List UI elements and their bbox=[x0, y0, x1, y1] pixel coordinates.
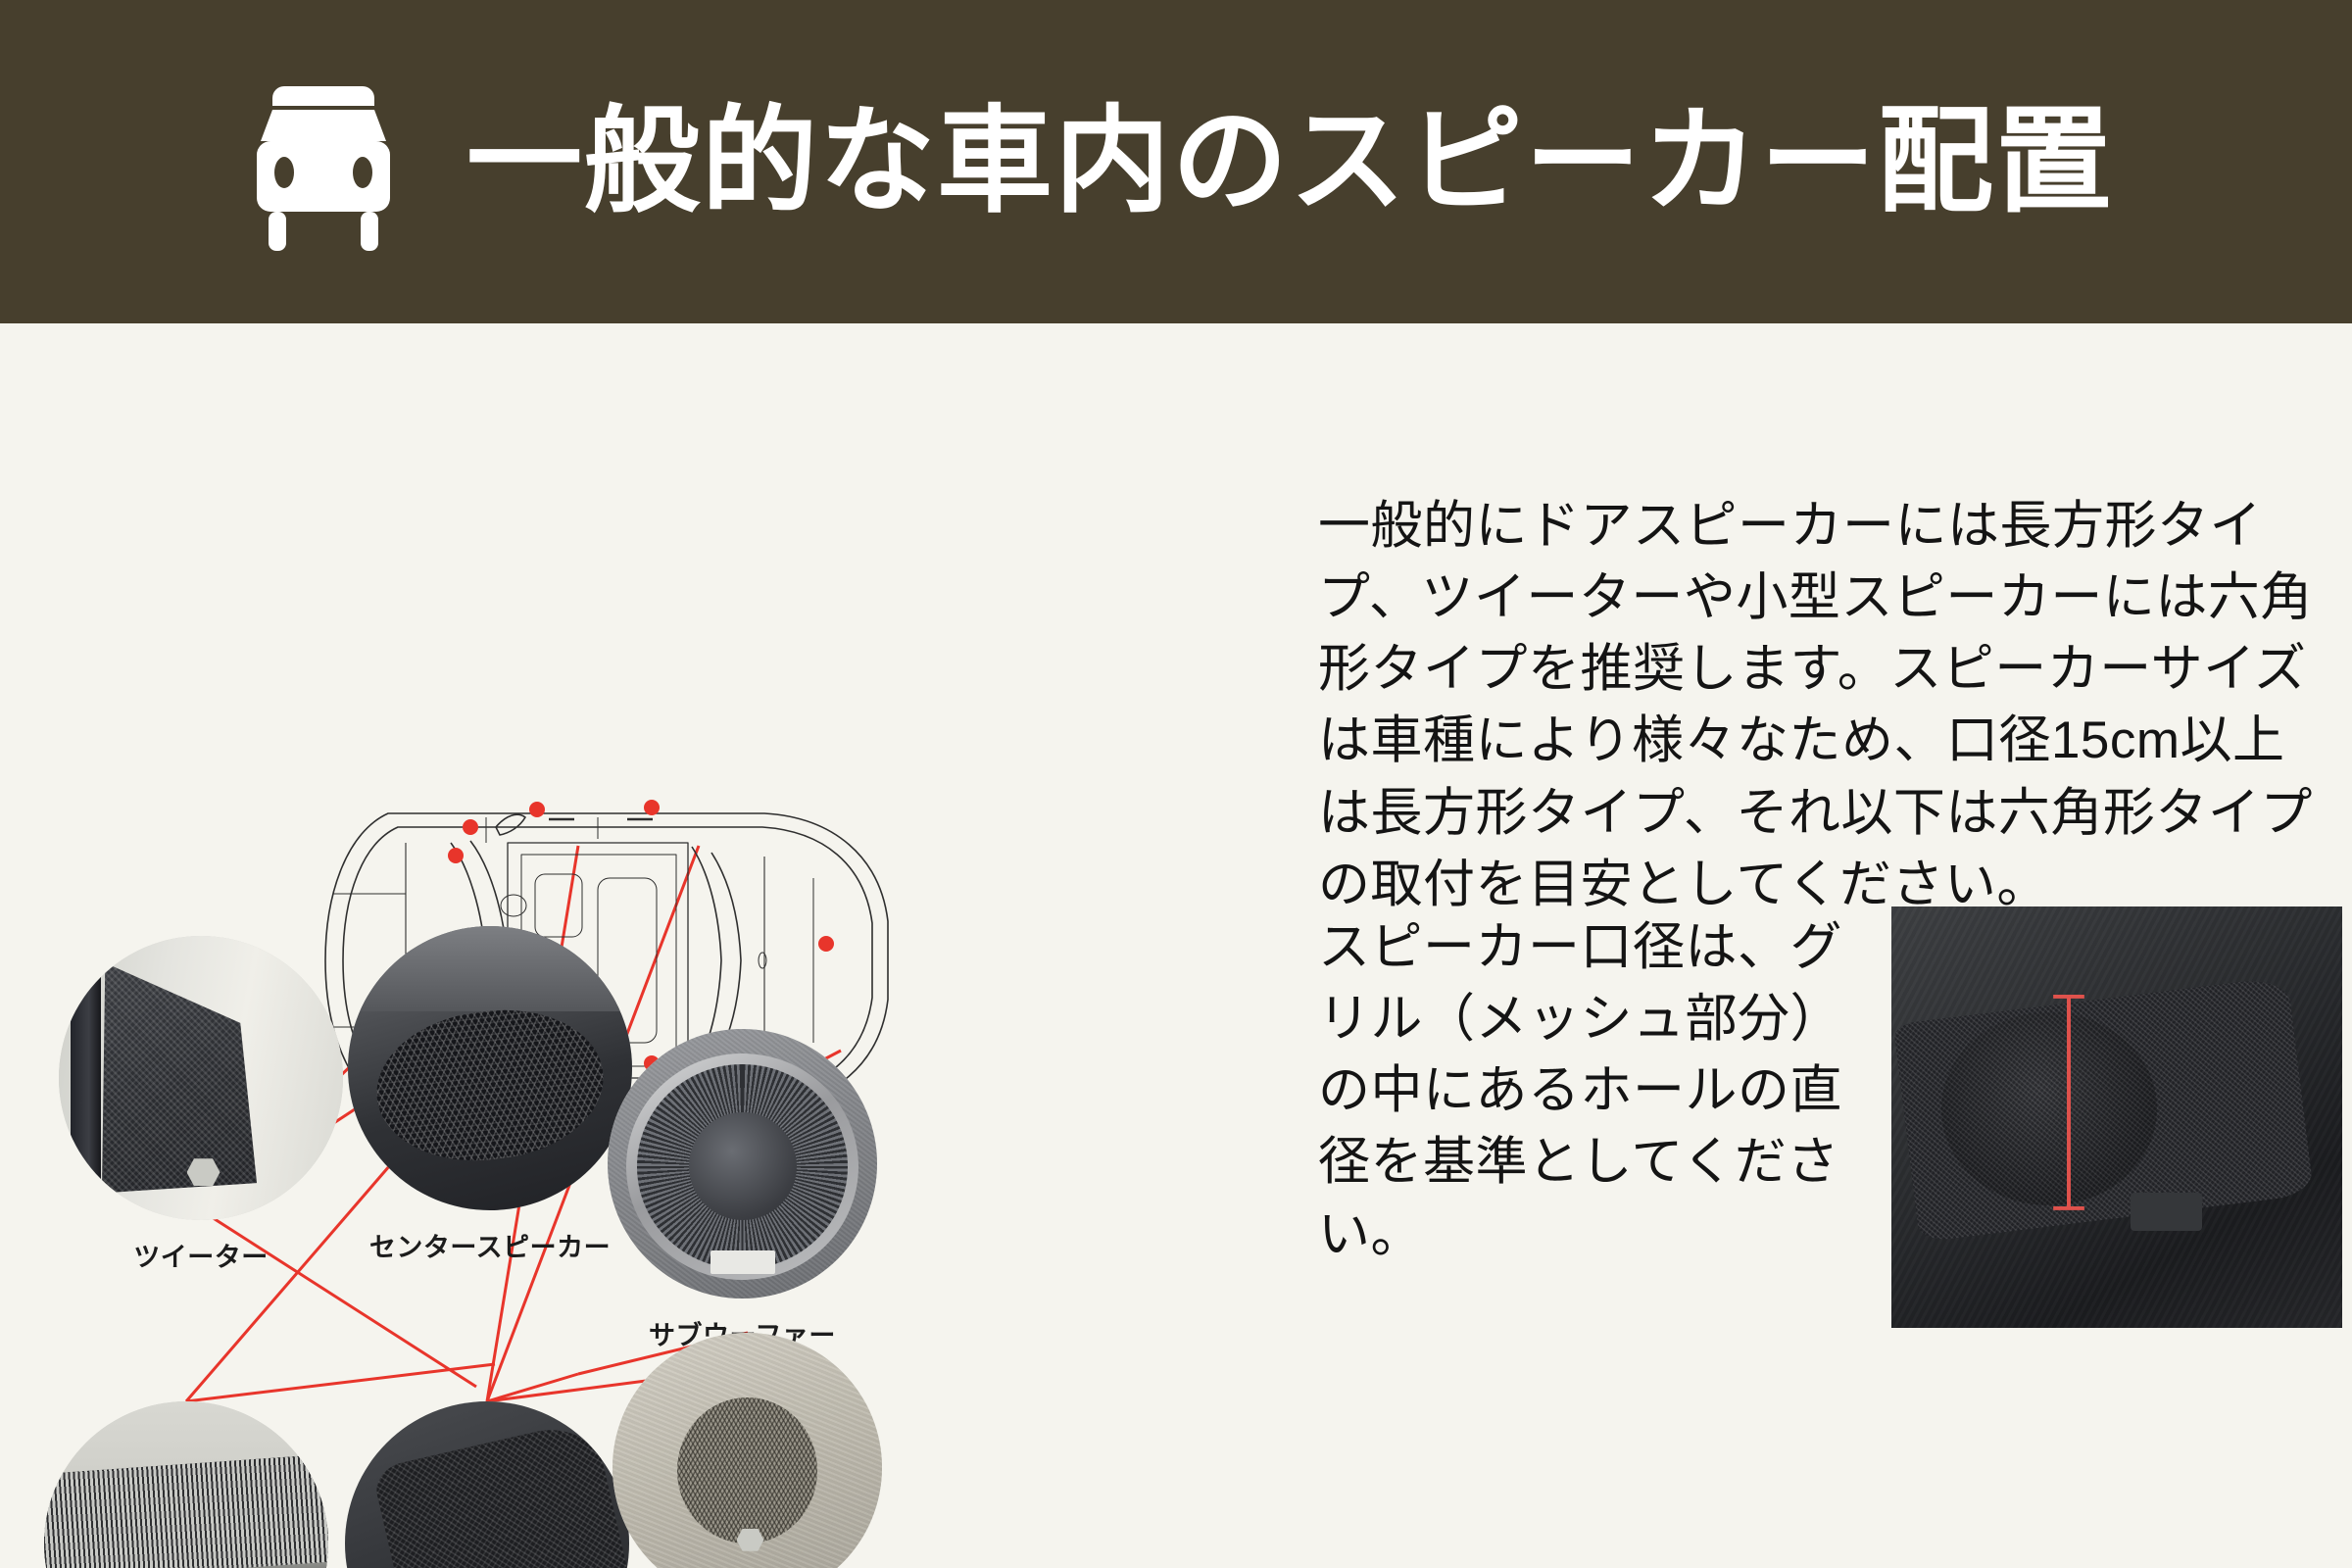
callout-label-center-speaker: センタースピーカー bbox=[348, 1226, 632, 1264]
page-header: 一般的な車内のスピーカー配置 bbox=[0, 0, 2352, 323]
diameter-measure-line bbox=[2049, 991, 2088, 1214]
paragraph-speaker-type-guidance: 一般的にドアスピーカーには長方形タイプ、ツイーターや小型スピーカーには六角形タイ… bbox=[1318, 490, 2318, 920]
door-speaker-photo bbox=[345, 1401, 629, 1568]
center-speaker-photo bbox=[348, 926, 632, 1210]
callout-tweeter: ツイーター bbox=[59, 936, 343, 1274]
callout-small-speaker: 小型スピーカー ※車種により配置場所は異なります bbox=[612, 1333, 892, 1568]
page-title: 一般的な車内のスピーカー配置 bbox=[466, 104, 2113, 220]
callout-label-tweeter: ツイーター bbox=[59, 1236, 343, 1274]
dashboard-speaker-photo bbox=[44, 1401, 328, 1568]
tweeter-photo bbox=[59, 936, 343, 1220]
paragraph-diameter-measurement: スピーカー口径は、グリル（メッシュ部分）の中にあるホールの直径を基準としてくださ… bbox=[1318, 911, 1852, 1270]
callout-center-speaker: センタースピーカー bbox=[348, 926, 632, 1264]
small-speaker-photo bbox=[612, 1333, 882, 1568]
subwoofer-photo bbox=[608, 1029, 877, 1298]
explanation-column: 一般的にドアスピーカーには長方形タイプ、ツイーターや小型スピーカーには六角形タイ… bbox=[1303, 323, 2352, 1568]
callout-dashboard-speaker: ダッシュボードスピーカー bbox=[44, 1401, 367, 1568]
callout-door-speaker: ドアスピーカー bbox=[345, 1401, 629, 1568]
car-front-icon bbox=[225, 67, 421, 263]
speaker-layout-diagram: ツイーター センタースピーカー サブウーファー ダッシュボードスピーカー bbox=[0, 323, 1303, 1568]
callout-subwoofer: サブウーファー bbox=[608, 1029, 877, 1352]
door-panel-diameter-photo bbox=[1891, 906, 2342, 1328]
